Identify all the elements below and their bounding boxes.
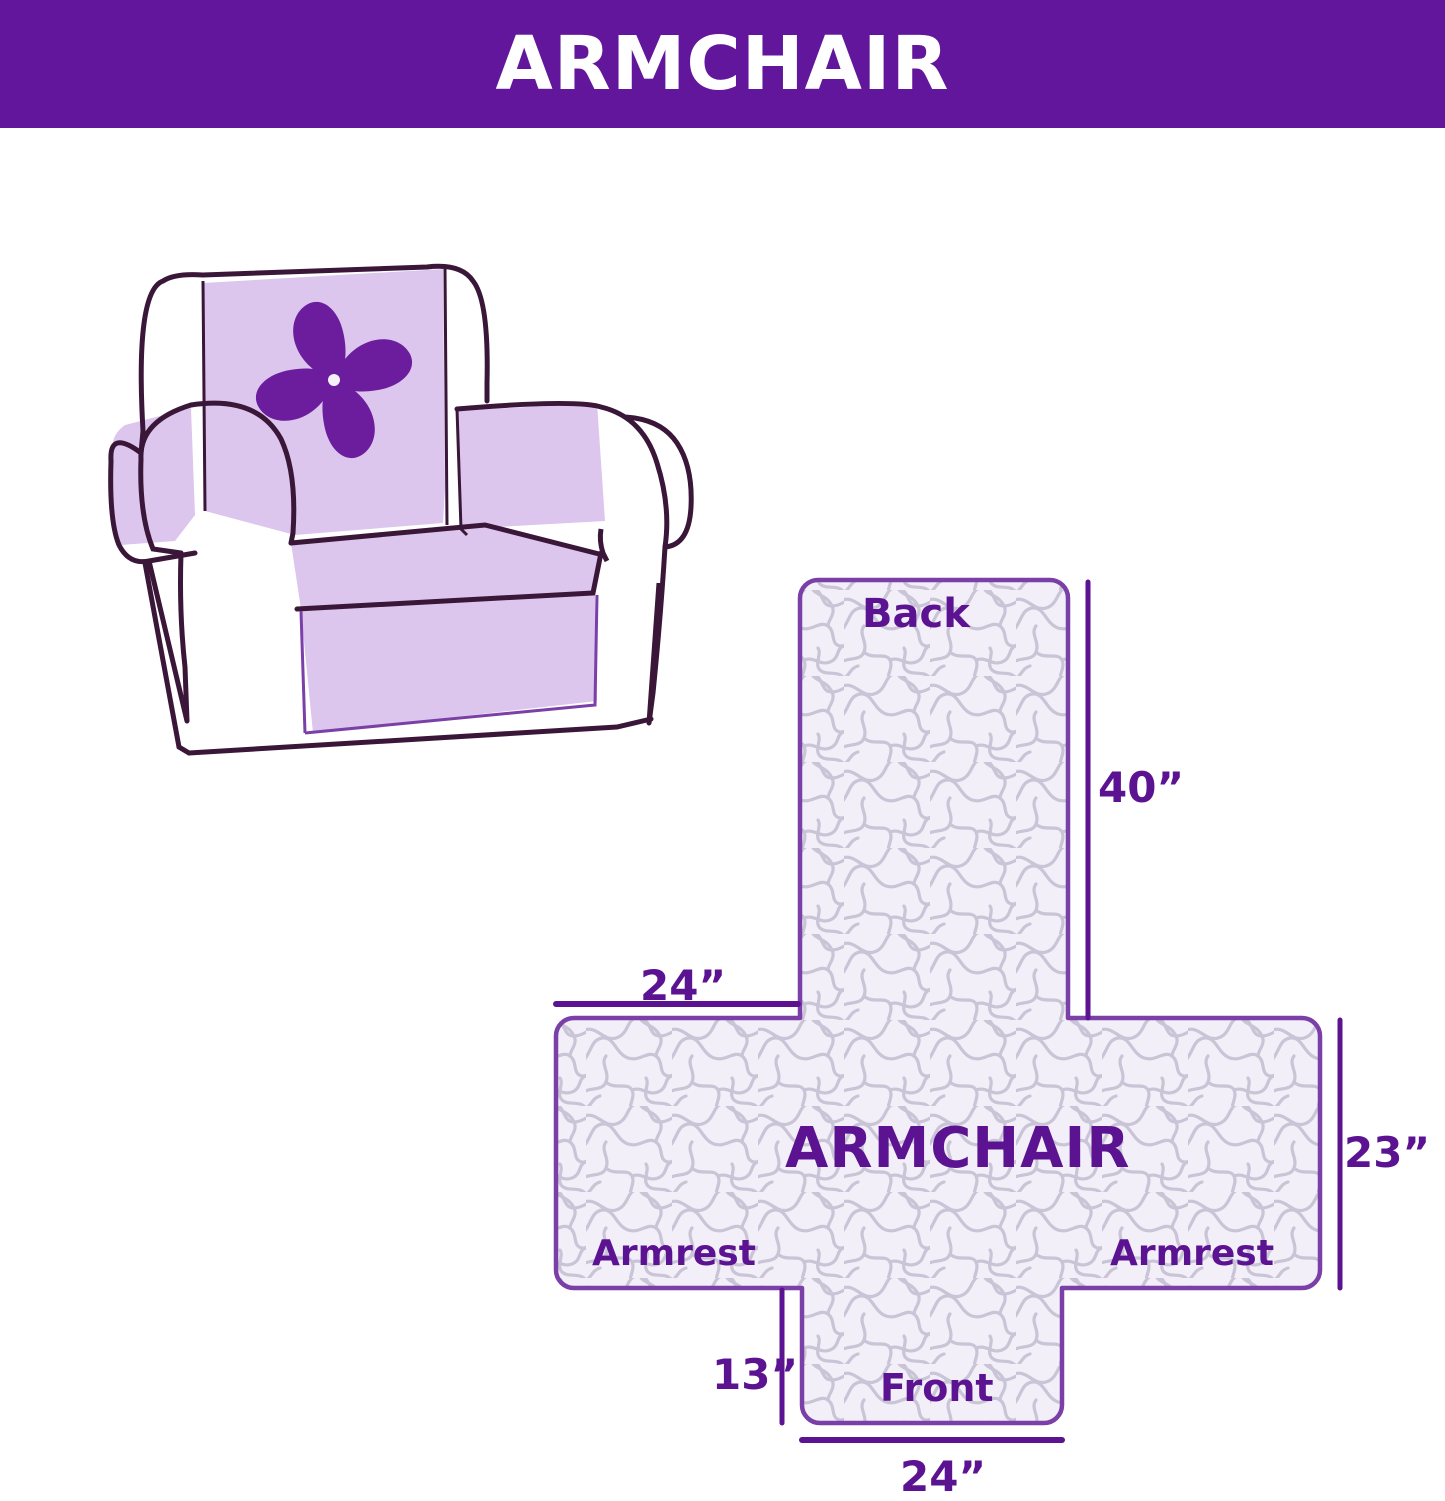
panel-label-back: Back (862, 591, 970, 637)
page-title: ARMCHAIR (496, 27, 950, 101)
panel-label-armrest-left: Armrest (592, 1233, 756, 1274)
dimension-label-armrest-width: 24” (640, 961, 726, 1010)
dimension-label-front-height: 13” (712, 1350, 798, 1399)
cover-diagram (500, 418, 1445, 1448)
chair-back-seam-right (445, 269, 447, 525)
panel-label-armrest-right: Armrest (1110, 1233, 1274, 1274)
panel-label-front: Front (880, 1366, 994, 1410)
content-canvas: Back ARMCHAIR Armrest Armrest Front 40” … (0, 128, 1445, 1445)
chair-back-seam-left (203, 281, 205, 511)
dimension-label-body-height: 23” (1344, 1128, 1430, 1177)
dimension-label-front-width: 24” (900, 1452, 986, 1501)
cover-diagram-svg (500, 418, 1445, 1448)
dimension-label-back-height: 40” (1098, 763, 1184, 812)
diagram-title: ARMCHAIR (785, 1116, 1130, 1181)
header-banner: ARMCHAIR (0, 0, 1445, 128)
